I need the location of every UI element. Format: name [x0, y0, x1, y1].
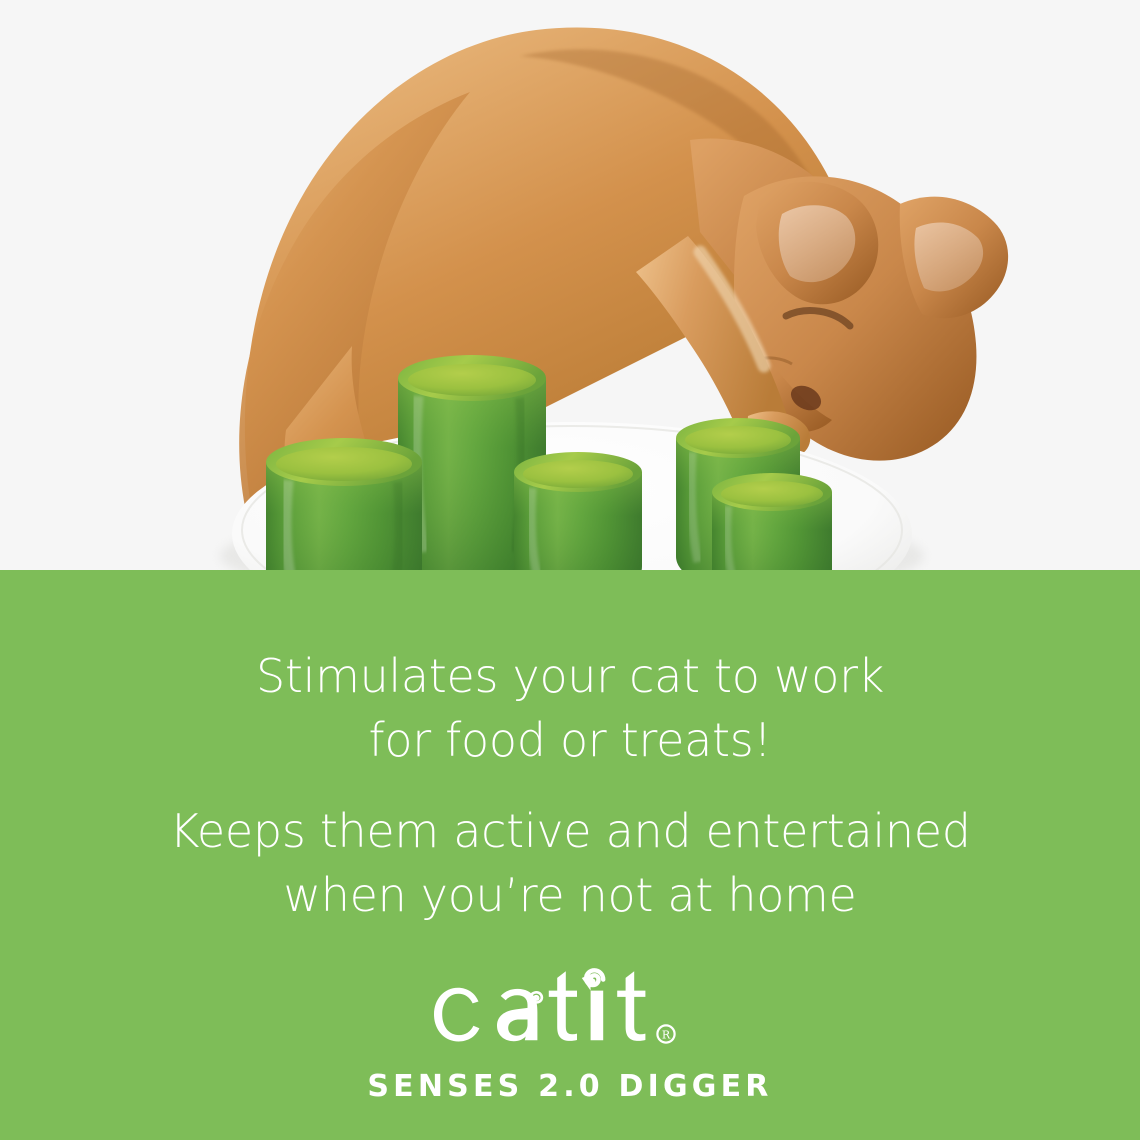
svg-text:R: R — [662, 1029, 671, 1042]
message-panel: Stimulates your cat to work for food or … — [0, 570, 1140, 1140]
digger-tube-front-center — [514, 452, 642, 571]
headline-secondary-line-2: when you’re not at home — [0, 863, 1140, 927]
cat-with-digger-illustration — [0, 0, 1140, 571]
product-poster: Stimulates your cat to work for food or … — [0, 0, 1140, 1140]
digger-tube-front-right — [712, 473, 832, 571]
catit-logo: R catit — [0, 957, 1140, 1067]
digger-tube-front-left — [266, 438, 422, 571]
catit-wordmark: R — [420, 957, 720, 1061]
headline-primary-line-1: Stimulates your cat to work — [0, 644, 1140, 708]
headline-primary-line-2: for food or treats! — [0, 708, 1140, 772]
product-photo — [0, 0, 1140, 571]
product-name-tagline: SENSES 2.0 DIGGER — [0, 1069, 1140, 1104]
headline-primary: Stimulates your cat to work for food or … — [0, 644, 1140, 772]
headline-secondary-line-1: Keeps them active and entertained — [0, 799, 1140, 863]
headline-secondary: Keeps them active and entertained when y… — [0, 799, 1140, 927]
